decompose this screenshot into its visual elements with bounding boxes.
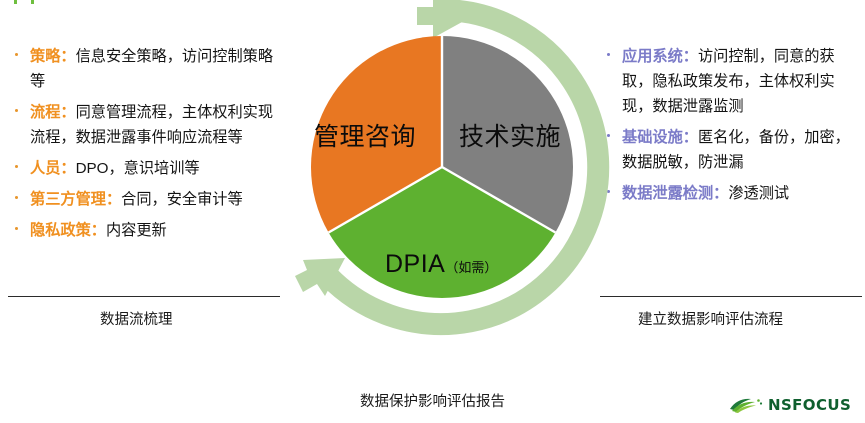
list-item: 应用系统：访问控制，同意的获取，隐私政策发布，主体权利实现，数据泄露监测	[600, 44, 862, 119]
left-bullet-list: 策略：信息安全策略，访问控制策略等 流程：同意管理流程，主体权利实现流程，数据泄…	[8, 44, 280, 243]
nsfocus-mark-icon	[729, 396, 763, 414]
bullet-separator: ：	[683, 129, 698, 146]
cycle-diagram-svg	[267, 0, 617, 342]
list-item: 流程：同意管理流程，主体权利实现流程，数据泄露事件响应流程等	[8, 100, 280, 150]
bullet-heading: 流程	[30, 104, 60, 121]
bullet-separator: ：	[91, 222, 106, 239]
left-caption: 数据流梳理	[100, 308, 173, 329]
bullet-separator: ：	[60, 104, 75, 121]
dpia-note: （如需）	[445, 260, 497, 275]
list-item: 隐私政策：内容更新	[8, 218, 280, 243]
slide-root: 策略：信息安全策略，访问控制策略等 流程：同意管理流程，主体权利实现流程，数据泄…	[0, 0, 865, 423]
segment-label-technical-implementation: 技术实施	[459, 117, 561, 153]
segment-label-dpia: DPIA（如需）	[385, 250, 497, 279]
bullet-separator: ：	[106, 191, 121, 208]
bullet-dot-icon	[15, 53, 18, 56]
nsfocus-logo: NSFOCUS	[729, 393, 853, 417]
bullet-separator: ：	[60, 48, 75, 65]
bullet-body: 内容更新	[106, 222, 167, 239]
cycle-diagram: 管理咨询 技术实施 DPIA（如需）	[267, 0, 617, 342]
bullet-dot-icon	[15, 165, 18, 168]
bullet-heading: 隐私政策	[30, 222, 91, 239]
left-text-column: 策略：信息安全策略，访问控制策略等 流程：同意管理流程，主体权利实现流程，数据泄…	[8, 44, 280, 249]
list-item: 数据泄露检测：渗透测试	[600, 181, 862, 206]
bullet-separator: ：	[60, 160, 75, 177]
bullet-heading: 数据泄露检测	[622, 185, 713, 202]
bullet-heading: 策略	[30, 48, 60, 65]
right-caption: 建立数据影响评估流程	[638, 308, 783, 329]
bullet-separator: ：	[683, 48, 698, 65]
list-item: 策略：信息安全策略，访问控制策略等	[8, 44, 280, 94]
list-item: 人员：DPO，意识培训等	[8, 156, 280, 181]
bullet-body: 合同，安全审计等	[121, 191, 243, 208]
list-item: 第三方管理：合同，安全审计等	[8, 187, 280, 212]
bullet-heading: 应用系统	[622, 48, 683, 65]
bullet-dot-icon	[15, 196, 18, 199]
left-divider	[8, 296, 280, 297]
bullet-heading: 基础设施	[622, 129, 683, 146]
right-text-column: 应用系统：访问控制，同意的获取，隐私政策发布，主体权利实现，数据泄露监测 基础设…	[600, 44, 862, 212]
segment-label-management-consulting: 管理咨询	[314, 117, 416, 153]
bullet-body: 渗透测试	[728, 185, 789, 202]
nsfocus-wordmark: NSFOCUS	[768, 398, 851, 413]
right-divider	[600, 296, 862, 297]
list-item: 基础设施：匿名化，备份，加密，数据脱敏，防泄漏	[600, 125, 862, 175]
bullet-dot-icon	[15, 109, 18, 112]
right-bullet-list: 应用系统：访问控制，同意的获取，隐私政策发布，主体权利实现，数据泄露监测 基础设…	[600, 44, 862, 206]
bullet-heading: 人员	[30, 160, 60, 177]
bullet-separator: ：	[713, 185, 728, 202]
dpia-text: DPIA	[385, 250, 445, 278]
bullet-heading: 第三方管理	[30, 191, 106, 208]
bullet-dot-icon	[15, 227, 18, 230]
bullet-body: DPO，意识培训等	[76, 160, 200, 177]
corner-accent-icon	[14, 0, 38, 4]
